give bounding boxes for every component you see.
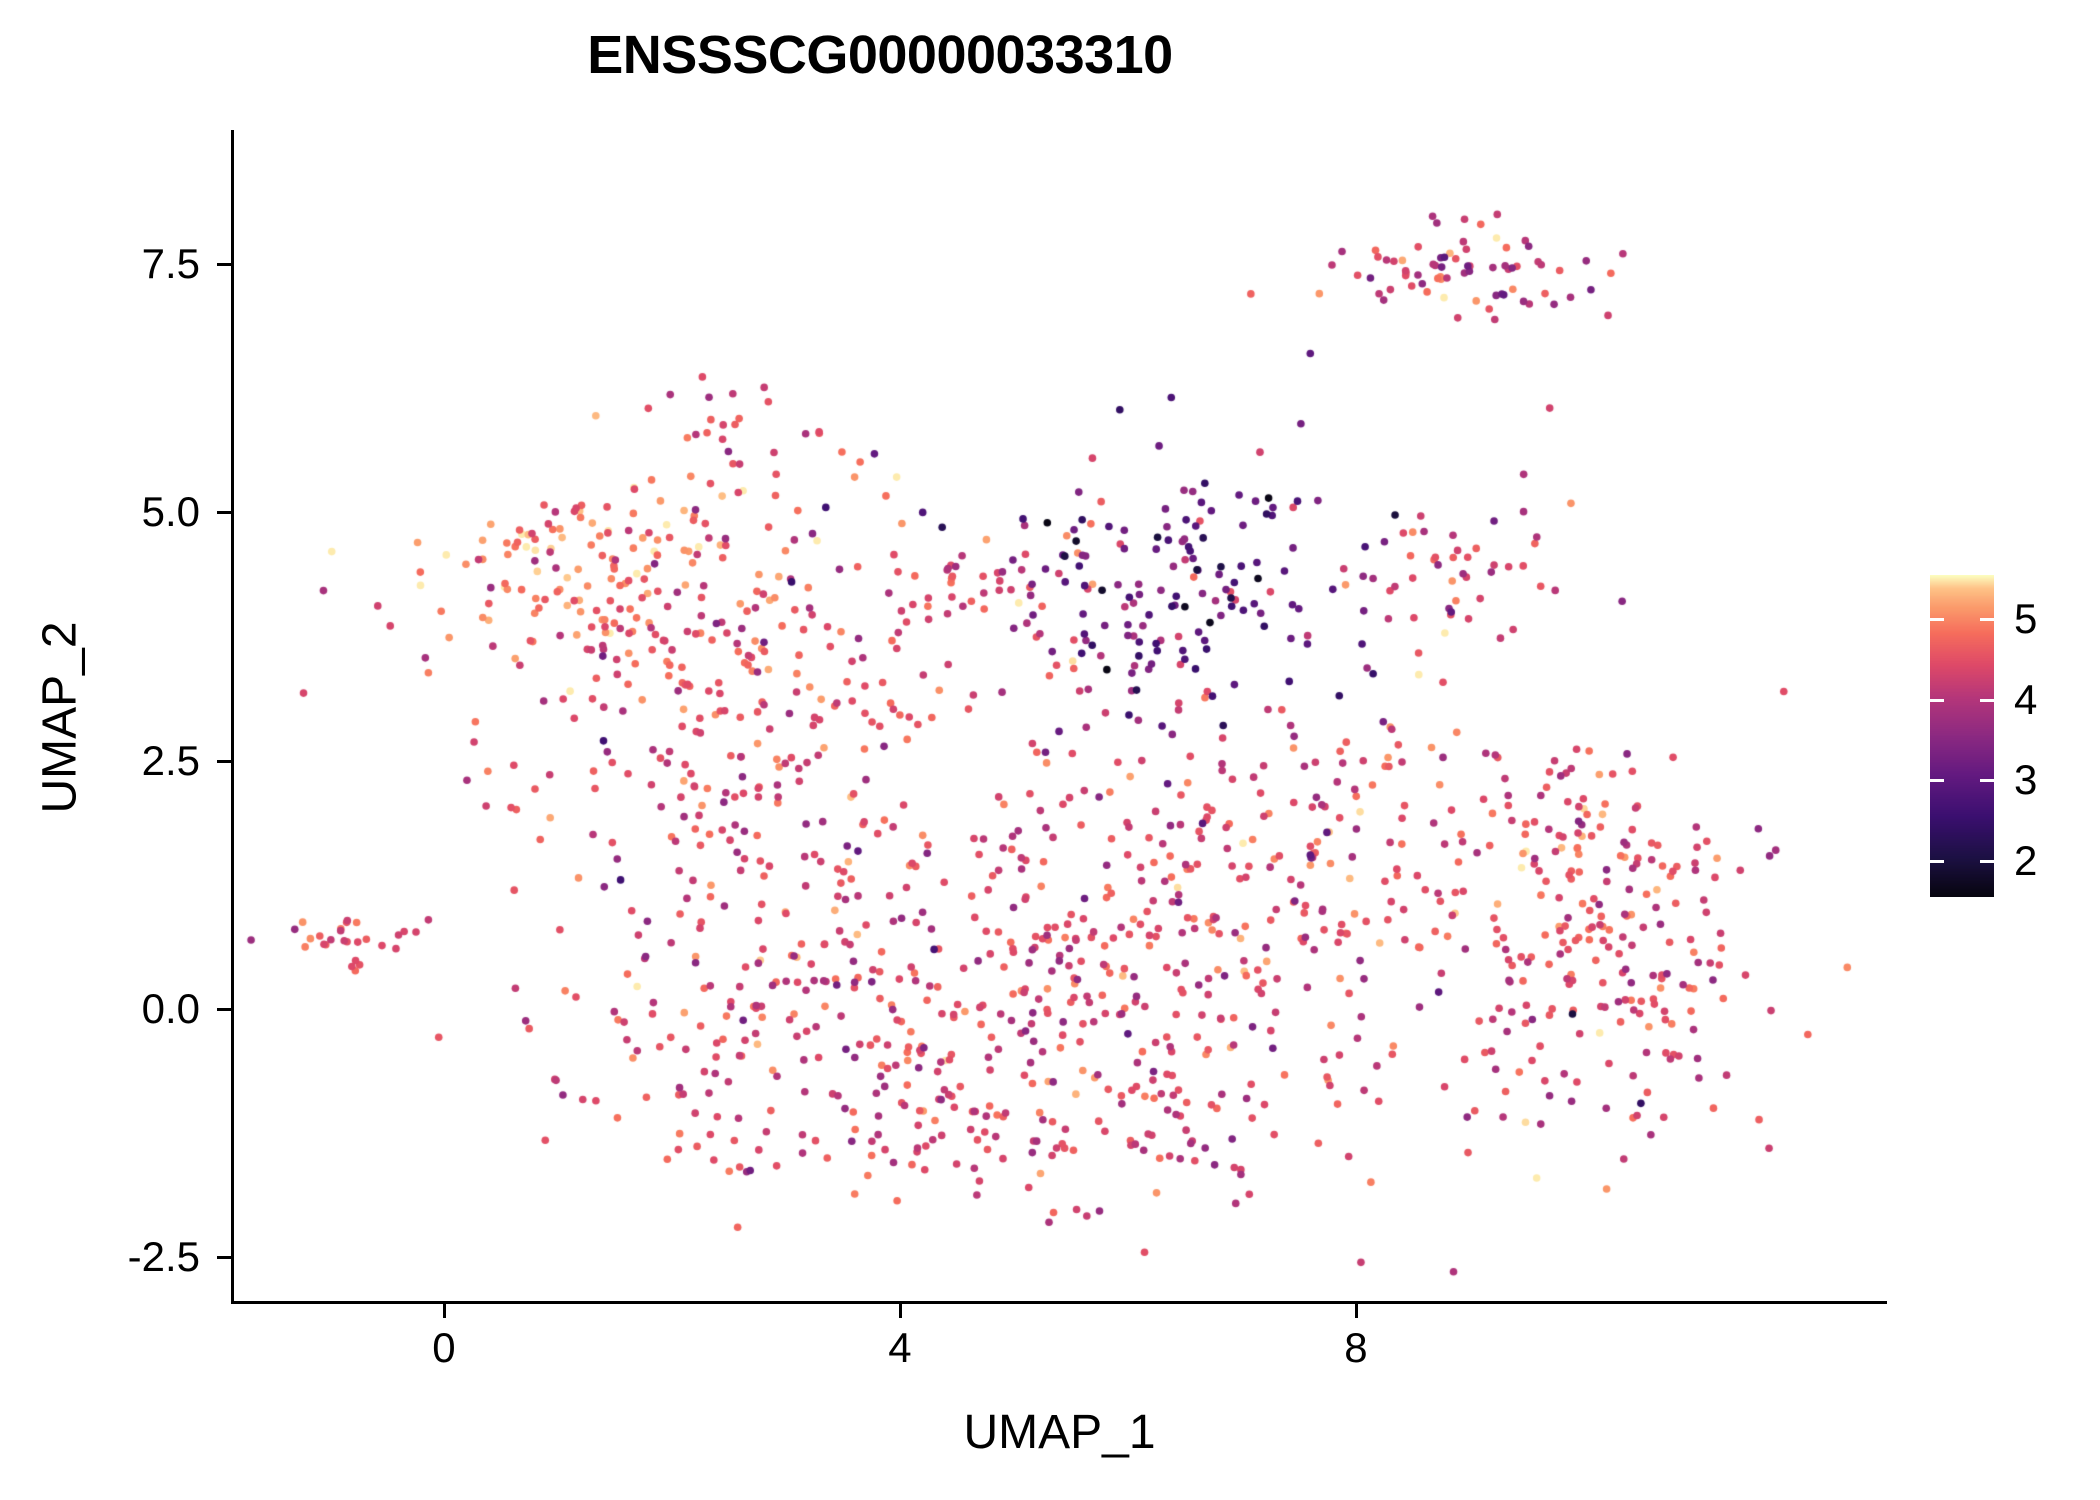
x-tick-mark	[443, 1304, 446, 1318]
colorbar-tick-mark	[1930, 618, 1944, 621]
x-tick-label: 0	[384, 1327, 504, 1369]
y-tick-label: 0.0	[0, 988, 200, 1030]
umap-feature-plot: ENSSSCG00000033310 -2.50.02.55.07.5 048 …	[0, 0, 2100, 1500]
page-title: ENSSSCG00000033310	[0, 24, 1760, 86]
x-tick-mark	[1355, 1304, 1358, 1318]
y-tick-mark	[217, 511, 231, 514]
x-tick-mark	[899, 1304, 902, 1318]
colorbar-tick-label: 4	[2014, 679, 2037, 721]
colorbar-tick-mark	[1930, 860, 1944, 863]
colorbar-gradient	[1930, 575, 1994, 897]
y-tick-mark	[217, 760, 231, 763]
y-tick-label: 5.0	[0, 491, 200, 533]
y-tick-label: 2.5	[0, 740, 200, 782]
plot-panel	[233, 130, 1886, 1302]
colorbar-tick-mark	[1930, 779, 1944, 782]
colorbar-tick-mark	[1980, 618, 1994, 621]
y-tick-label: -2.5	[0, 1236, 200, 1278]
y-tick-label: 7.5	[0, 243, 200, 285]
colorbar-legend: 2345	[1930, 575, 2080, 900]
colorbar-tick-mark	[1980, 860, 1994, 863]
colorbar-tick-label: 5	[2014, 598, 2037, 640]
colorbar-tick-label: 3	[2014, 759, 2037, 801]
colorbar-tick-mark	[1980, 779, 1994, 782]
y-axis-line	[231, 130, 234, 1304]
x-axis-title: UMAP_1	[233, 1405, 1886, 1460]
y-tick-mark	[217, 263, 231, 266]
colorbar-tick-mark	[1980, 699, 1994, 702]
colorbar-tick-label: 2	[2014, 840, 2037, 882]
x-tick-label: 4	[840, 1327, 960, 1369]
scatter-points-canvas	[233, 130, 1886, 1302]
y-tick-mark	[217, 1256, 231, 1259]
x-tick-label: 8	[1296, 1327, 1416, 1369]
y-axis-title: UMAP_2	[33, 368, 88, 1068]
x-axis-line	[231, 1301, 1887, 1304]
colorbar-tick-mark	[1930, 699, 1944, 702]
y-tick-mark	[217, 1008, 231, 1011]
